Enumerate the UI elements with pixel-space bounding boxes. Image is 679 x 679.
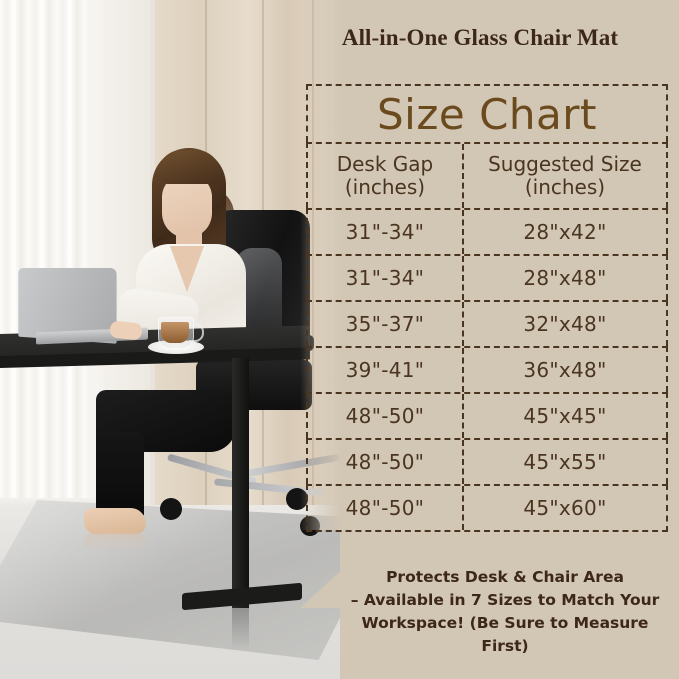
bare-foot (84, 508, 146, 534)
column-header-suggested-size-line1: Suggested Size (488, 153, 642, 176)
column-header-suggested-size: Suggested Size (inches) (462, 144, 666, 208)
table-row: 48"-50" 45"x55" (306, 438, 668, 484)
cell-suggested-size: 45"x55" (462, 440, 666, 484)
cell-desk-gap: 31"-34" (308, 210, 462, 254)
footer-line-2: – Available in 7 Sizes to Match Your (340, 589, 670, 612)
cell-desk-gap: 48"-50" (308, 440, 462, 484)
cell-desk-gap: 48"-50" (308, 394, 462, 438)
column-header-suggested-size-line2: (inches) (488, 176, 642, 199)
footer-line-3: Workspace! (Be Sure to Measure First) (340, 612, 670, 658)
column-header-desk-gap: Desk Gap (inches) (308, 144, 462, 208)
size-chart-heading-label: Size Chart (377, 90, 597, 139)
cell-suggested-size: 45"x45" (462, 394, 666, 438)
column-header-desk-gap-line1: Desk Gap (337, 153, 434, 176)
foot-reflection (84, 532, 146, 552)
cell-suggested-size: 45"x60" (462, 486, 666, 530)
cell-desk-gap: 39"-41" (308, 348, 462, 392)
leg (96, 432, 144, 518)
table-row: 31"-34" 28"x48" (306, 254, 668, 300)
cell-desk-gap: 35"-37" (308, 302, 462, 346)
cell-desk-gap: 48"-50" (308, 486, 462, 530)
cell-suggested-size: 36"x48" (462, 348, 666, 392)
table-row: 31"-34" 28"x42" (306, 208, 668, 254)
column-header-desk-gap-line2: (inches) (337, 176, 434, 199)
cell-suggested-size: 28"x48" (462, 256, 666, 300)
table-row: 35"-37" 32"x48" (306, 300, 668, 346)
size-chart-heading: Size Chart (306, 84, 668, 142)
desk-leg (232, 358, 249, 608)
product-infographic: All-in-One Glass Chair Mat Size Chart De… (0, 0, 679, 679)
hand (109, 320, 143, 340)
footer-note: Protects Desk & Chair Area – Available i… (340, 566, 670, 658)
size-chart-table: Size Chart Desk Gap (inches) Suggested S… (306, 84, 668, 532)
cell-suggested-size: 32"x48" (462, 302, 666, 346)
cell-suggested-size: 28"x42" (462, 210, 666, 254)
table-row: 39"-41" 36"x48" (306, 346, 668, 392)
coffee-liquid (161, 322, 189, 343)
cell-desk-gap: 31"-34" (308, 256, 462, 300)
table-row: 48"-50" 45"x45" (306, 392, 668, 438)
table-row: 48"-50" 45"x60" (306, 484, 668, 532)
chair-caster (160, 498, 182, 520)
lifestyle-photo (0, 0, 340, 679)
hair-fringe (158, 150, 220, 184)
desk-leg-reflection (232, 600, 249, 650)
footer-line-1: Protects Desk & Chair Area (340, 566, 670, 589)
page-title: All-in-One Glass Chair Mat (290, 25, 670, 51)
table-header-row: Desk Gap (inches) Suggested Size (inches… (306, 142, 668, 208)
